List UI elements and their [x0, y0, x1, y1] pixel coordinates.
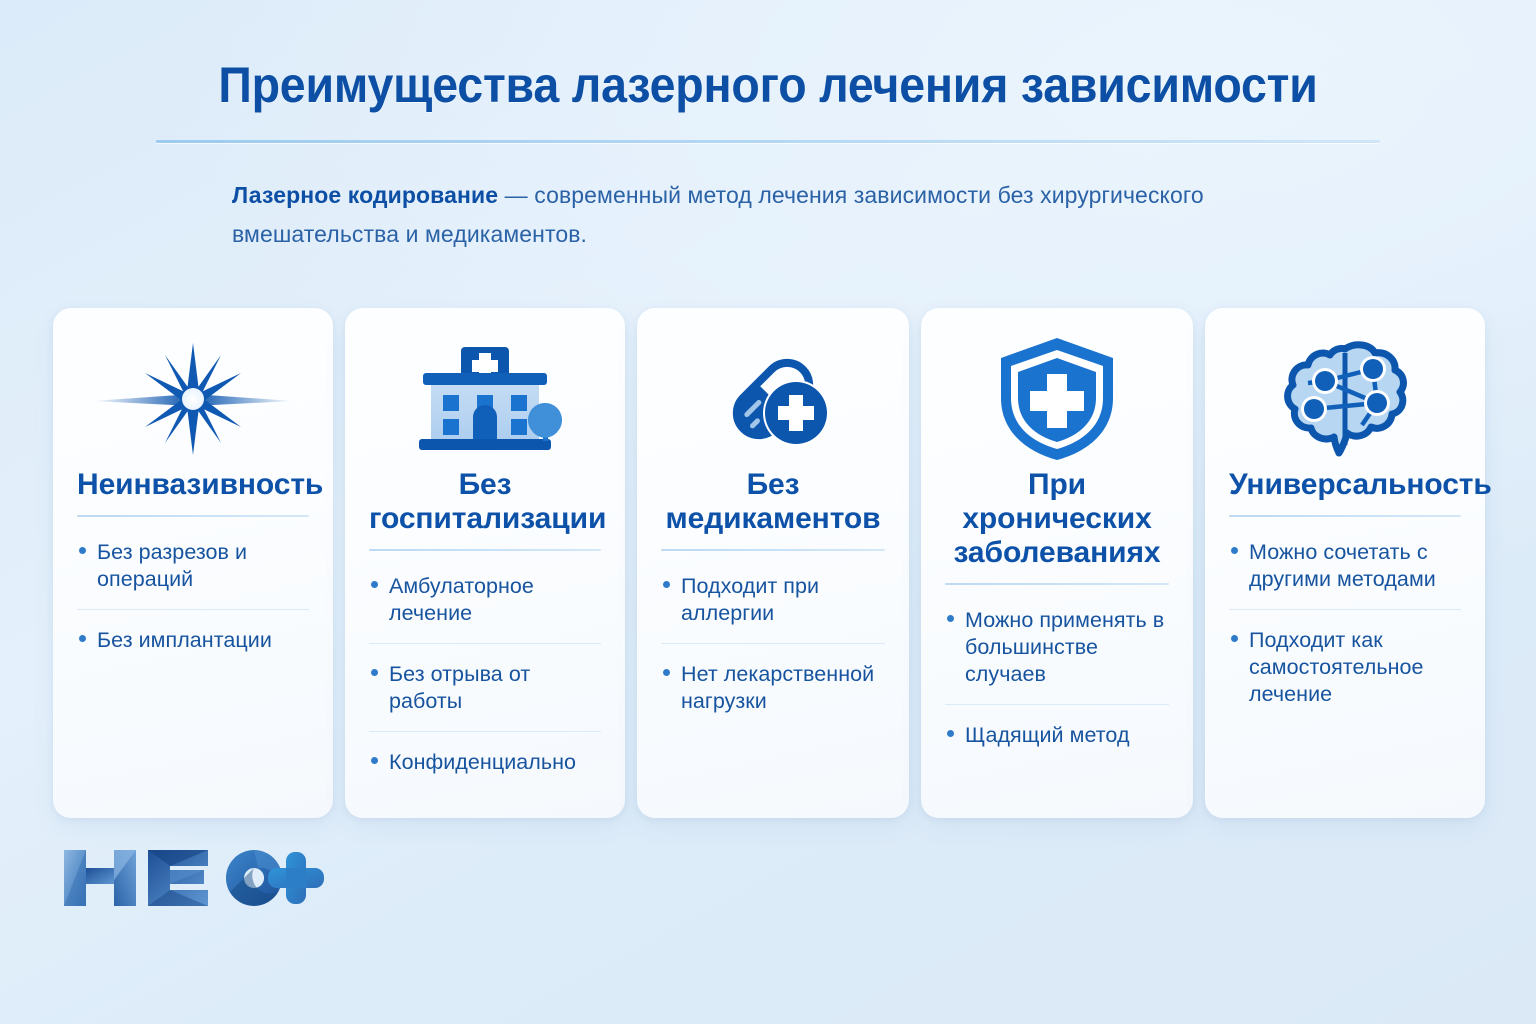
card-title-divider: [369, 549, 601, 551]
card-title-divider: [77, 515, 309, 517]
list-item: Подходит при аллергии: [661, 556, 885, 643]
subtitle-emphasis: Лазерное кодирование: [232, 182, 498, 208]
shield-cross-icon: [945, 340, 1169, 458]
list-item: Амбулаторное лечение: [369, 556, 601, 643]
card-title-divider: [1229, 515, 1461, 517]
hospital-building-icon: [369, 340, 601, 458]
page-header: Преимущества лазерного лечения зависимос…: [0, 0, 1536, 143]
list-item: Без разрезов и операций: [77, 522, 309, 609]
list-item: Конфиденциально: [369, 731, 601, 792]
laser-burst-icon: [77, 340, 309, 458]
list-item: Можно применять в большинстве случаев: [945, 590, 1169, 704]
card-bullet-list: Подходит при аллергии Нет лекарственной …: [661, 556, 885, 731]
card-title-divider: [945, 583, 1169, 585]
page-subtitle: Лазерное кодирование — современный метод…: [232, 176, 1232, 254]
card-bullet-list: Можно сочетать с другими методами Подход…: [1229, 522, 1461, 724]
benefit-card-no-hospitalization[interactable]: Без госпитализации Амбулаторное лечение …: [345, 308, 625, 818]
card-bullet-list: Без разрезов и операций Без имплантации: [77, 522, 309, 670]
card-title: При хронических заболеваниях: [945, 468, 1169, 570]
list-item: Можно сочетать с другими методами: [1229, 522, 1461, 609]
card-title: Универсальность: [1229, 468, 1461, 502]
list-item: Нет лекарственной нагрузки: [661, 643, 885, 731]
card-bullet-list: Амбулаторное лечение Без отрыва от работ…: [369, 556, 601, 792]
card-bullet-list: Можно применять в большинстве случаев Ща…: [945, 590, 1169, 765]
pill-cross-icon: [661, 340, 885, 458]
benefit-card-chronic-conditions[interactable]: При хронических заболеваниях Можно приме…: [921, 308, 1193, 818]
benefit-card-noninvasive[interactable]: Неинвазивность Без разрезов и операций Б…: [53, 308, 333, 818]
neo-plus-logo[interactable]: НЕО+: [58, 838, 326, 918]
brain-network-icon: [1229, 340, 1461, 458]
card-title: Неинвазивность: [77, 468, 309, 502]
list-item: Щадящий метод: [945, 704, 1169, 765]
list-item: Без имплантации: [77, 609, 309, 670]
card-title: Без госпитализации: [369, 468, 601, 536]
header-divider: [156, 140, 1380, 143]
benefit-card-no-medication[interactable]: Без медикаментов Подходит при аллергии Н…: [637, 308, 909, 818]
card-title-divider: [661, 549, 885, 551]
card-title: Без медикаментов: [661, 468, 885, 536]
list-item: Подходит как самостоятельное лечение: [1229, 609, 1461, 724]
benefit-card-universality[interactable]: Универсальность Можно сочетать с другими…: [1205, 308, 1485, 818]
benefit-cards-row: Неинвазивность Без разрезов и операций Б…: [53, 308, 1485, 818]
list-item: Без отрыва от работы: [369, 643, 601, 731]
page-title: Преимущества лазерного лечения зависимос…: [54, 56, 1482, 114]
